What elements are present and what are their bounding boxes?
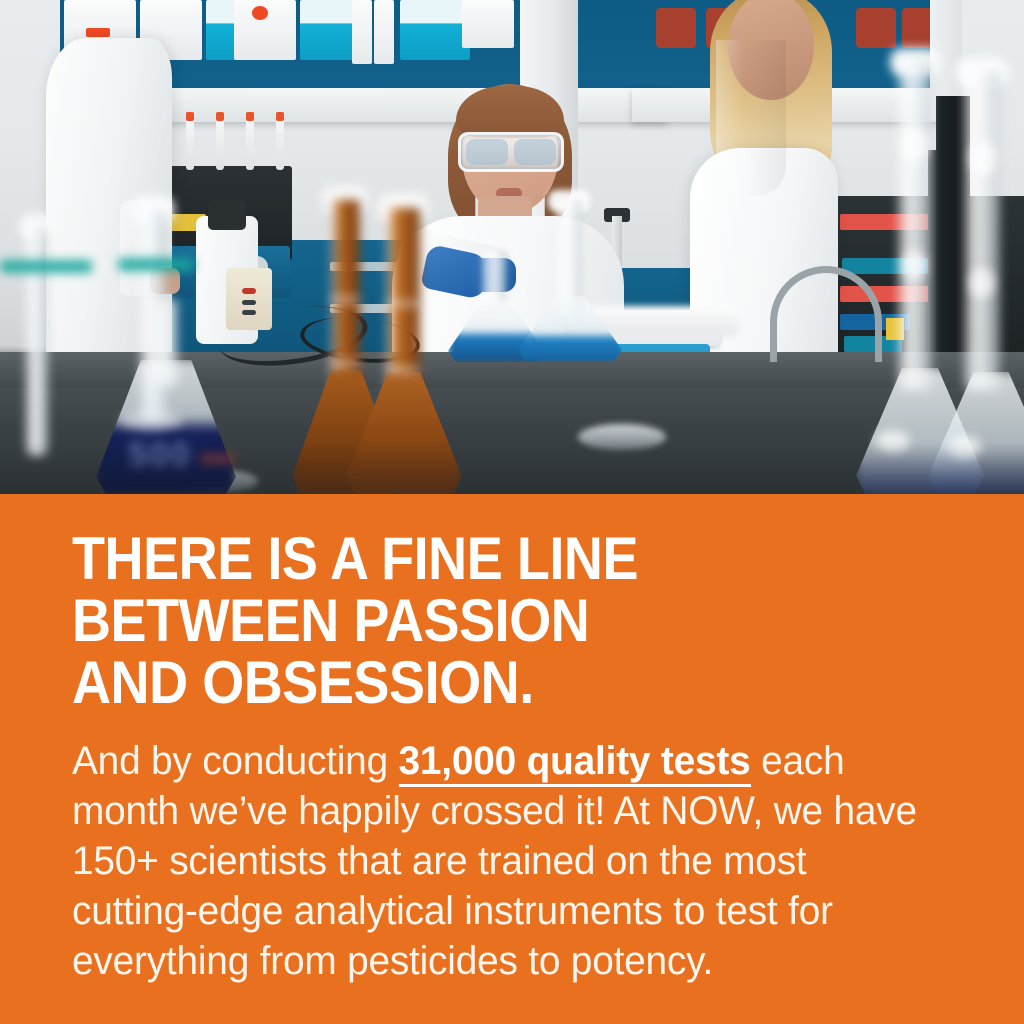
flask-graduation-ring — [386, 300, 420, 307]
outlet-indicator — [242, 300, 256, 305]
supply-box — [352, 0, 372, 64]
center-scientist-bangs — [456, 86, 564, 138]
chair-icon — [856, 8, 896, 48]
flask-neck — [482, 250, 506, 306]
goggle-lens — [514, 139, 556, 165]
outlet-indicator — [242, 288, 256, 294]
glass-highlight — [970, 140, 996, 176]
bottle-clip — [208, 200, 246, 230]
quality-tests-highlight: 31,000 quality tests — [399, 739, 751, 787]
flask-graduation-ring — [330, 296, 360, 303]
glass-highlight — [120, 412, 182, 430]
burette-clamp — [118, 258, 194, 271]
supply-box — [234, 0, 296, 60]
flask-graduation-ring — [330, 360, 360, 367]
outlet-indicator — [242, 310, 256, 315]
social-graphic-card: 500 THERE IS A FINE LINE BETWEEN PASSION… — [0, 0, 1024, 1024]
pipette — [186, 112, 194, 170]
page-title: THERE IS A FINE LINE BETWEEN PASSION AND… — [72, 528, 882, 714]
pipette — [246, 112, 254, 170]
supply-box — [462, 0, 514, 48]
flask-neck — [964, 70, 1000, 390]
glass-highlight — [902, 128, 928, 162]
pipette — [216, 112, 224, 170]
glass-highlight — [902, 250, 926, 280]
goggle-lens — [466, 139, 508, 165]
box-label-dot — [86, 28, 110, 37]
box-label-dot — [252, 6, 268, 20]
body-copy: And by conducting 31,000 quality tests e… — [72, 736, 926, 986]
flask-neck — [898, 60, 932, 390]
flask-graduation-ring — [386, 366, 420, 373]
pipette — [276, 112, 284, 170]
supply-box — [400, 0, 470, 60]
glass-highlight — [970, 268, 994, 298]
burette-clamp — [0, 260, 92, 273]
photo-bottom-fade — [0, 440, 1024, 494]
supply-box — [300, 0, 358, 60]
lab-photo: 500 — [0, 0, 1024, 494]
right-scientist-hair-highlight — [716, 40, 786, 196]
supply-box — [374, 0, 394, 64]
orange-text-panel: THERE IS A FINE LINE BETWEEN PASSION AND… — [0, 494, 1024, 1024]
chair-icon — [656, 8, 696, 48]
body-copy-lead: And by conducting — [72, 739, 399, 783]
